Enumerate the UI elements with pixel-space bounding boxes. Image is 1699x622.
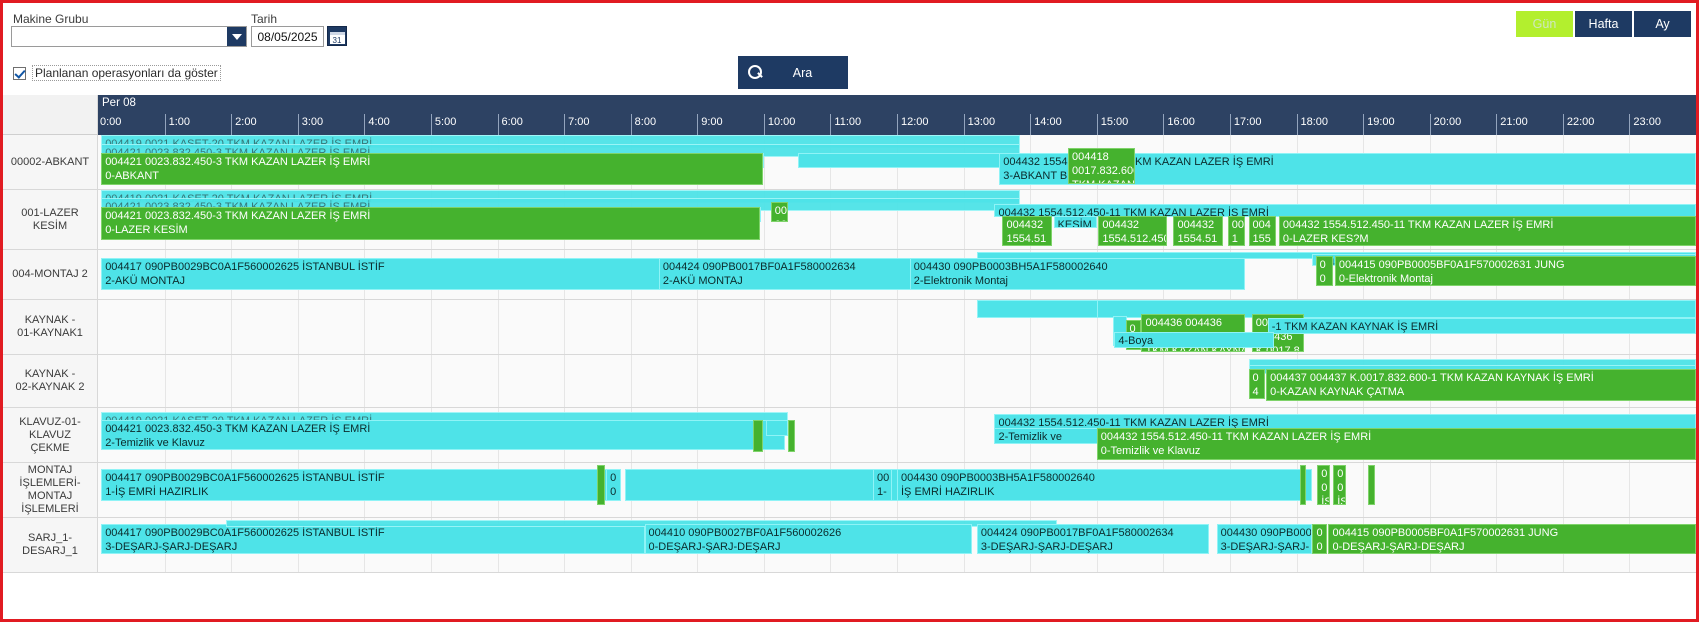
gantt-bar-sublabel: 1 (1232, 232, 1245, 246)
gantt-task-bar[interactable]: 00İŞ (1333, 465, 1346, 505)
gantt-bar-label: 00 (877, 472, 889, 484)
gantt-bar-label: 004410 090PB0027BF0A1F560002626 (649, 527, 842, 539)
gantt-bar-sublabel: 3-DEŞARJ-ŞARJ- (1221, 540, 1312, 554)
timeline-hour-tick: 11:00 (830, 114, 897, 135)
gantt-task-bar[interactable] (1368, 465, 1374, 505)
gantt-bar-sublabel: 0 (1321, 481, 1329, 495)
timeline-hour-tick: 23:00 (1629, 114, 1696, 135)
gantt-bar-sublabel: 0-DEŞARJ-ŞARJ-DEŞARJ (1332, 540, 1695, 554)
timeline-hour-tick: 0:00 (98, 114, 165, 135)
gantt-bar-sublabel: 0-Temizlik ve Klavuz (1101, 444, 1695, 458)
timeline-hour-tick: 16:00 (1163, 114, 1230, 135)
gantt-task-bar[interactable]: 004410 090PB0027BF0A1F5600026260-DEŞARJ-… (645, 524, 973, 554)
gantt-bar-label: 004424 090PB0017BF0A1F580002634 (981, 527, 1174, 539)
gantt-bar-sublabel: 3-DEŞARJ-ŞARJ-DEŞARJ (981, 540, 1208, 554)
gantt-bar-sublabel: 155 (1253, 232, 1275, 246)
machine-group-label: Makine Grubu (13, 12, 88, 26)
gantt-task-bar[interactable]: 004155TK (1249, 216, 1276, 246)
gantt-bar-label: 00 (775, 205, 787, 217)
search-button-label: Ara (771, 66, 842, 80)
gantt-gridline (964, 408, 965, 462)
gantt-bar-label: 0 (1316, 527, 1322, 539)
machine-group-input[interactable] (12, 27, 227, 46)
gantt-gridline (964, 355, 965, 407)
gantt-row: SARJ_1-DESARJ_1004417 090PB0029BC0A1F560… (3, 518, 1696, 573)
gantt-gridline (431, 300, 432, 354)
gantt-task-bar[interactable]: 004430 090PB0003BH5A1F5800026402-Elektro… (910, 258, 1246, 290)
timeline-hour-tick: 2:00 (231, 114, 298, 135)
scheduling-app-window: Makine Grubu Tarih 31 Planlanan operasyo… (0, 0, 1699, 622)
timeline-hour-tick: 21:00 (1496, 114, 1563, 135)
tab-month[interactable]: Ay (1634, 11, 1691, 37)
gantt-bar-label: KESİM (1058, 219, 1092, 228)
gantt-bar-sublabel: 4 (1253, 385, 1264, 399)
gantt-row-label: KLAVUZ-01-KLAVUZÇEKME (3, 408, 98, 462)
gantt-task-bar[interactable]: 00 (1312, 524, 1326, 554)
gantt-gridline (231, 300, 232, 354)
timeline-hour-tick: 3:00 (298, 114, 365, 135)
gantt-bar-label: 004418 (1072, 151, 1109, 163)
gantt-bar-label: 0 (1321, 468, 1327, 480)
gantt-row-label: 004-MONTAJ 2 (3, 250, 98, 299)
gantt-bar-label: 004421 0023.832.450-3 TKM KAZAN LAZER İŞ… (105, 210, 370, 222)
gantt-bar-sublabel: 1-İŞ EMRİ HAZIRLIK (105, 485, 611, 499)
timeline-hour-tick: 4:00 (364, 114, 431, 135)
gantt-task-bar[interactable]: KESİM (1054, 216, 1097, 228)
show-planned-operations-label: Planlanan operasyonları da göster (32, 65, 221, 81)
gantt-gridline (631, 355, 632, 407)
gantt-task-bar[interactable]: 001TK (1228, 216, 1246, 246)
timeline-hour-tick: 13:00 (964, 114, 1031, 135)
gantt-bar-label: 004417 090PB0029BC0A1F560002625 İSTANBUL… (105, 472, 384, 484)
gantt-row-track: 04004437 004437 K.0017.832.600-1 TKM KAZ… (98, 355, 1696, 407)
gantt-timeline-header: Per 08 0:001:002:003:004:005:006:007:008… (98, 95, 1696, 135)
gantt-gridline (498, 355, 499, 407)
gantt-bar-label: 004417 090PB0029BC0A1F560002625 İSTANBUL… (105, 527, 384, 539)
gantt-bar-sublabel-2: TKM KAZAN (1072, 178, 1134, 184)
gantt-rows: 00002-ABKANT004419 0021.KASET-20 TKM KAZ… (3, 135, 1696, 619)
timeline-hour-tick: 10:00 (764, 114, 831, 135)
gantt-bar-label: 004430 090PB0003BH5A1F580002640 (901, 472, 1095, 484)
gantt-gridline (1163, 355, 1164, 407)
gantt-gridline (564, 300, 565, 354)
gantt-gridline (364, 355, 365, 407)
gantt-task-bar[interactable]: 0044180017.832.600TKM KAZAN (1068, 148, 1135, 184)
gantt-row: KLAVUZ-01-KLAVUZÇEKME004419 0021.KASET-2… (3, 408, 1696, 463)
show-planned-operations-row[interactable]: Planlanan operasyonları da göster (13, 65, 221, 81)
gantt-gridline (1230, 355, 1231, 407)
gantt-task-bar[interactable] (753, 420, 763, 452)
gantt-gridline (964, 300, 965, 354)
gantt-gridline (631, 300, 632, 354)
gantt-gridline (830, 300, 831, 354)
gantt-gridline (231, 355, 232, 407)
calendar-day-number: 31 (330, 32, 345, 44)
gantt-task-bar[interactable] (1300, 465, 1306, 505)
gantt-task-bar[interactable]: 004417 090PB0029BC0A1F560002625 İSTANBUL… (101, 469, 612, 501)
date-input[interactable] (251, 26, 324, 47)
gantt-bar-label: 004432 1554.512.450-11 TKM KAZAN LAZER İ… (1283, 219, 1553, 231)
gantt-row-label: 001-LAZER KESİM (3, 190, 98, 249)
gantt-bar-label: 4-Boya (1118, 335, 1153, 347)
gantt-bar-sublabel: 1554.51 (1006, 232, 1051, 246)
gantt-bar-sublabel: 0017.832.600 (1072, 164, 1134, 178)
gantt-task-bar[interactable]: -1 TKM KAZAN KAYNAK İŞ EMRİ (1268, 318, 1696, 334)
gantt-gridline (897, 408, 898, 462)
gantt-row-track: 04004436 004436K.0017.832.600-1TKM KAZAN… (98, 300, 1696, 354)
gantt-row-track: 004417 090PB0029BC0A1F560002625 İSTANBUL… (98, 463, 1696, 517)
timeline-hour-tick: 8:00 (631, 114, 698, 135)
gantt-bar-label: 004424 090PB0017BF0A1F580002634 (663, 261, 856, 273)
gantt-row: 001-LAZER KESİM004419 0021.KASET-20 TKM … (3, 190, 1696, 250)
gantt-task-bar[interactable]: 004432 1554.512.450-11 TKM KAZAN LAZER İ… (1097, 428, 1696, 460)
timeline-hour-tick: 20:00 (1430, 114, 1497, 135)
view-range-tabs: Gün Hafta Ay (1516, 11, 1691, 37)
timeline-hour-tick: 6:00 (498, 114, 565, 135)
filter-toolbar: Makine Grubu Tarih 31 Planlanan operasyo… (3, 3, 1696, 95)
gantt-bar-label: 0 (1337, 468, 1343, 480)
gantt-bar-sublabel-2: İŞ (1321, 495, 1329, 505)
gantt-task-bar[interactable]: 004421 0023.832.450-3 TKM KAZAN LAZER İŞ… (101, 153, 763, 185)
gantt-task-bar[interactable]: 04 (1249, 369, 1265, 399)
gantt-row: KAYNAK -01-KAYNAK104004436 004436K.0017.… (3, 300, 1696, 355)
timeline-day-label: Per 08 (102, 97, 136, 109)
gantt-row: 004-MONTAJ 2004417 090PB0029BC0A1F560002… (3, 250, 1696, 300)
gantt-bar-label: 004415 090PB0005BF0A1F570002631 JUNG (1332, 527, 1558, 539)
timeline-hour-tick: 22:00 (1563, 114, 1630, 135)
gantt-bar-sublabel: 0-KAZAN KAYNAK ÇATMA (1270, 385, 1695, 399)
gantt-bar-label: 004436 004436 (1145, 317, 1221, 329)
gantt-chart: Per 08 0:001:002:003:004:005:006:007:008… (3, 95, 1696, 619)
gantt-gridline (1563, 463, 1564, 517)
gantt-bar-sublabel: 0 (1320, 272, 1333, 286)
gantt-gridline (1363, 463, 1364, 517)
gantt-row-label: KAYNAK -01-KAYNAK1 (3, 300, 98, 354)
gantt-bar-label: 004432 (1006, 219, 1043, 231)
gantt-corner-cell (3, 95, 98, 135)
gantt-bar-label: 004437 004437 K.0017.832.600-1 TKM KAZAN… (1270, 372, 1594, 384)
gantt-task-bar[interactable]: 0044321554.512.450TKM KAZAN (1098, 216, 1167, 246)
calendar-icon[interactable]: 31 (327, 26, 347, 46)
gantt-bar-sublabel: 2-Elektronik Montaj (914, 274, 1245, 288)
gantt-task-bar[interactable]: 00 (1316, 256, 1334, 286)
gantt-gridline (697, 355, 698, 407)
gantt-bar-sublabel: 0 (1337, 481, 1345, 495)
gantt-bar-label: 004417 090PB0029BC0A1F560002625 İSTANBUL… (105, 261, 384, 273)
gantt-task-bar[interactable]: 004432 1554.512.450-11 TKM KAZAN LAZER İ… (1279, 216, 1696, 246)
gantt-gridline (764, 355, 765, 407)
gantt-bar-sublabel: 1554.512.450 (1102, 232, 1166, 246)
gantt-task-bar[interactable]: 4-Boya (1114, 332, 1274, 348)
gantt-gridline (1097, 355, 1098, 407)
machine-group-combobox[interactable] (11, 26, 247, 47)
gantt-gridline (1030, 355, 1031, 407)
timeline-hour-tick: 17:00 (1230, 114, 1297, 135)
gantt-gridline (298, 300, 299, 354)
gantt-row-label: SARJ_1-DESARJ_1 (3, 518, 98, 572)
gantt-gridline (498, 300, 499, 354)
gantt-task-bar[interactable]: 004424 090PB0017BF0A1F5800026343-DEŞARJ-… (977, 524, 1209, 554)
gantt-task-bar[interactable] (597, 465, 605, 505)
gantt-bar-label: 00 (1232, 219, 1244, 231)
gantt-row: 00002-ABKANT004419 0021.KASET-20 TKM KAZ… (3, 135, 1696, 190)
gantt-gridline (897, 355, 898, 407)
gantt-bar-label: 004432 1554.512.450-11 TKM KAZAN LAZER İ… (1101, 431, 1371, 443)
timeline-hour-tick: 9:00 (697, 114, 764, 135)
gantt-bar-label: 004430 090PB0003BH5A1F580002640 (914, 261, 1108, 273)
gantt-bar-sublabel: 00 (775, 218, 788, 222)
gantt-row-track: 004417 090PB0029BC0A1F560002625 İSTANBUL… (98, 518, 1696, 572)
gantt-gridline (897, 300, 898, 354)
gantt-bar-label: 0 (1253, 372, 1259, 384)
gantt-bar-label: 004430 090PB000 (1221, 527, 1312, 539)
search-icon (748, 65, 763, 80)
tab-day[interactable]: Gün (1516, 11, 1573, 37)
timeline-hour-tick: 15:00 (1097, 114, 1164, 135)
gantt-bar-sublabel: 0-DEŞARJ-ŞARJ-DEŞARJ (649, 540, 972, 554)
gantt-row-label: MONTAJİŞLEMLERİ-MONTAJİŞLEMLERİ (3, 463, 98, 517)
date-label: Tarih (251, 12, 277, 26)
gantt-bar-sublabel: 0-LAZER KES?M (1283, 232, 1695, 246)
gantt-bar-label: 2-Temizlik ve (998, 431, 1062, 443)
gantt-bar-sublabel: 0 (610, 485, 619, 499)
gantt-bar-label: 004421 0023.832.450-3 TKM KAZAN LAZER İŞ… (105, 423, 370, 435)
gantt-task-bar[interactable]: 004437 004437 K.0017.832.600-1 TKM KAZAN… (1266, 369, 1696, 401)
gantt-bar-sublabel: 1- (877, 485, 891, 499)
gantt-gridline (1430, 463, 1431, 517)
show-planned-operations-checkbox[interactable] (13, 67, 26, 80)
gantt-bar-label: 004415 090PB0005BF0A1F570002631 JUNG (1339, 259, 1565, 271)
gantt-bar-sublabel: 0-Elektronik Montaj (1339, 272, 1695, 286)
gantt-bar-label: 004432 1554.512.450-11 TKM KAZAN LAZER İ… (1003, 156, 1273, 168)
gantt-bar-label: 004421 0023.832.450-3 TKM KAZAN LAZER İŞ… (105, 156, 370, 168)
gantt-row-track: 004417 090PB0029BC0A1F560002625 İSTANBUL… (98, 250, 1696, 299)
gantt-gridline (165, 300, 166, 354)
gantt-bar-sublabel: 0-LAZER KESİM (105, 223, 758, 237)
gantt-bar-sublabel: 0 (1316, 540, 1325, 554)
gantt-task-bar[interactable]: 004430 090PB0003-DEŞARJ-ŞARJ- (1217, 524, 1313, 554)
gantt-gridline (1496, 463, 1497, 517)
gantt-gridline (830, 355, 831, 407)
gantt-task-bar[interactable]: 00İŞ (1317, 465, 1330, 505)
gantt-bar-label: 004 (1253, 219, 1271, 231)
gantt-bar-label: -1 TKM KAZAN KAYNAK İŞ EMRİ (1272, 321, 1438, 333)
gantt-bar-label: 0 (610, 472, 616, 484)
gantt-task-bar[interactable]: 001- (873, 469, 892, 501)
gantt-row-track: 004419 0021.KASET-20 TKM KAZAN LAZER İŞ … (98, 190, 1696, 249)
timeline-hour-tick: 5:00 (431, 114, 498, 135)
timeline-hour-tick: 1:00 (165, 114, 232, 135)
gantt-gridline (364, 300, 365, 354)
timeline-hour-tick: 18:00 (1297, 114, 1364, 135)
tab-week[interactable]: Hafta (1575, 11, 1632, 37)
gantt-gridline (165, 355, 166, 407)
gantt-task-bar[interactable]: 0044321554.51TKM (1173, 216, 1223, 246)
gantt-row-label: KAYNAK -02-KAYNAK 2 (3, 355, 98, 407)
gantt-row: KAYNAK -02-KAYNAK 204004437 004437 K.001… (3, 355, 1696, 408)
gantt-gridline (564, 355, 565, 407)
gantt-task-bar[interactable]: 0000TS (771, 202, 789, 222)
timeline-hour-tick: 19:00 (1363, 114, 1430, 135)
gantt-row-label: 00002-ABKANT (3, 135, 98, 189)
chevron-down-icon[interactable] (227, 27, 246, 46)
search-button[interactable]: Ara (738, 56, 848, 89)
gantt-gridline (830, 408, 831, 462)
gantt-task-bar[interactable]: 00 (606, 469, 620, 501)
gantt-gridline (298, 355, 299, 407)
gantt-bar-sublabel: 0-ABKANT (105, 169, 762, 183)
gantt-task-bar[interactable]: 0044321554.51TKM (1002, 216, 1052, 246)
gantt-bar-sublabel: 3-DEŞARJ-ŞARJ-DEŞARJ (105, 540, 643, 554)
gantt-task-bar[interactable]: 004421 0023.832.450-3 TKM KAZAN LAZER İŞ… (101, 207, 759, 240)
gantt-task-bar[interactable]: 004415 090PB0005BF0A1F570002631 JUNG0-El… (1335, 256, 1696, 286)
gantt-bar-sublabel: İŞ EMRİ HAZIRLIK (901, 485, 1311, 499)
gantt-gridline (1629, 463, 1630, 517)
gantt-task-bar[interactable]: 004421 0023.832.450-3 TKM KAZAN LAZER İŞ… (101, 420, 785, 450)
gantt-task-bar[interactable]: 004415 090PB0005BF0A1F570002631 JUNG0-DE… (1328, 524, 1696, 554)
gantt-bar-sublabel-2: İŞ (1337, 495, 1345, 505)
gantt-gridline (431, 355, 432, 407)
gantt-task-bar[interactable]: 004417 090PB0029BC0A1F560002625 İSTANBUL… (101, 524, 644, 554)
gantt-bar-label: 0 (1320, 259, 1326, 271)
gantt-gridline (697, 300, 698, 354)
gantt-bar-sublabel: 1554.51 (1177, 232, 1222, 246)
timeline-hour-tick: 7:00 (564, 114, 631, 135)
gantt-gridline (764, 300, 765, 354)
gantt-task-bar[interactable]: 004430 090PB0003BH5A1F580002640İŞ EMRİ H… (897, 469, 1312, 501)
gantt-task-bar[interactable] (788, 420, 794, 452)
gantt-bar-label: 004432 (1177, 219, 1214, 231)
gantt-row-track: 004419 0021.KASET-20 TKM KAZAN LAZER İŞ … (98, 135, 1696, 189)
gantt-row: MONTAJİŞLEMLERİ-MONTAJİŞLEMLERİ004417 09… (3, 463, 1696, 518)
timeline-hour-tick: 12:00 (897, 114, 964, 135)
gantt-bar-label: 004432 (1102, 219, 1139, 231)
gantt-task-bar[interactable] (766, 420, 788, 436)
gantt-bar-sublabel: 2-Temizlik ve Klavuz (105, 436, 784, 450)
timeline-hour-tick: 14:00 (1030, 114, 1097, 135)
gantt-row-track: 004419 0021.KASET-20 TKM KAZAN LAZER İŞ … (98, 408, 1696, 462)
